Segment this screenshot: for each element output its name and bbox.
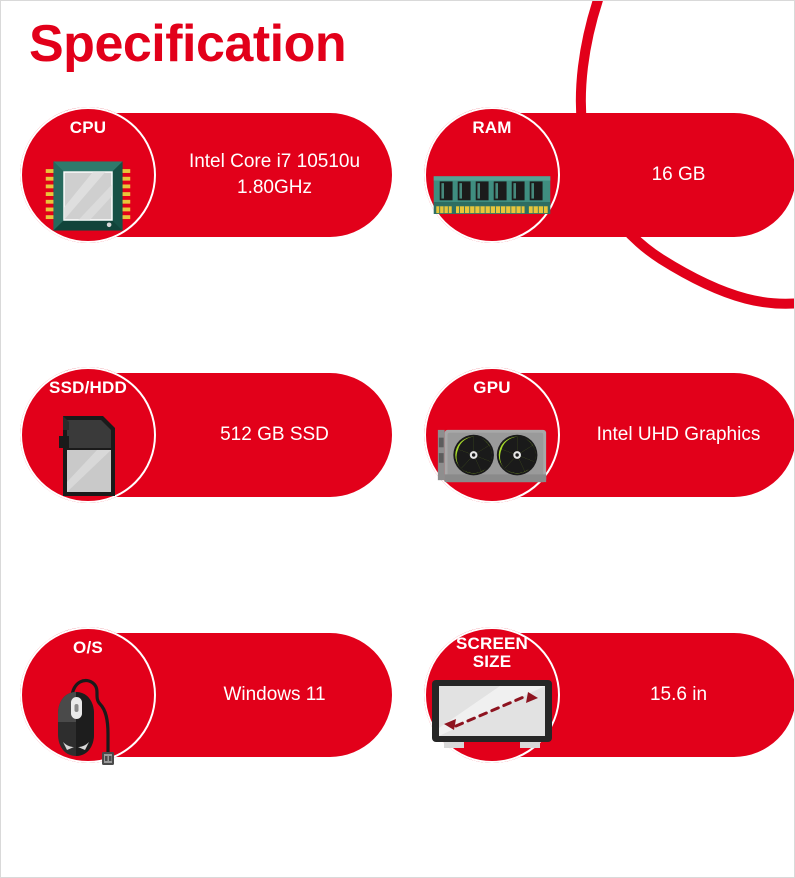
spec-label-gpu: GPU bbox=[424, 379, 560, 397]
spec-card-ram[interactable]: RAM 16 GB bbox=[433, 113, 795, 237]
spec-row: SSD/HDD 512 GB SSD bbox=[1, 373, 795, 633]
spec-label-screen-size: SCREEN SIZE bbox=[424, 635, 560, 672]
spec-value-screen-size: 15.6 in bbox=[561, 633, 795, 757]
spec-card-gpu[interactable]: GPU Intel UHD Graphics bbox=[433, 373, 795, 497]
spec-label-storage: SSD/HDD bbox=[20, 379, 156, 397]
spec-label-screen-size-line1: SCREEN bbox=[456, 634, 528, 653]
spec-row: CPU Intel Core i7 10510u 1.80GHz bbox=[1, 113, 795, 373]
page-title: Specification bbox=[29, 15, 346, 75]
memory-card-icon bbox=[20, 403, 156, 509]
spec-card-storage[interactable]: SSD/HDD 512 GB SSD bbox=[29, 373, 392, 497]
spec-card-os[interactable]: O/S Windows 11 bbox=[29, 633, 392, 757]
spec-label-ram: RAM bbox=[424, 119, 560, 137]
spec-value-ram: 16 GB bbox=[561, 113, 795, 237]
spec-value-cpu-line1: Intel Core i7 10510u bbox=[189, 151, 360, 172]
monitor-diagonal-icon bbox=[424, 663, 560, 769]
spec-value-cpu: Intel Core i7 10510u 1.80GHz bbox=[157, 113, 392, 237]
spec-card-grid: CPU Intel Core i7 10510u 1.80GHz bbox=[1, 113, 795, 878]
spec-value-os: Windows 11 bbox=[157, 633, 392, 757]
specification-infographic: Specification bbox=[0, 0, 795, 878]
spec-row: O/S Windows 11 bbox=[1, 633, 795, 878]
spec-label-cpu: CPU bbox=[20, 119, 156, 137]
spec-value-gpu: Intel UHD Graphics bbox=[561, 373, 795, 497]
spec-value-cpu-line2: 1.80GHz bbox=[237, 177, 312, 198]
spec-value-storage: 512 GB SSD bbox=[157, 373, 392, 497]
graphics-card-icon bbox=[424, 403, 560, 509]
computer-mouse-icon bbox=[20, 663, 156, 769]
ram-stick-icon bbox=[424, 143, 560, 249]
cpu-chip-icon bbox=[20, 143, 156, 249]
spec-card-screen-size[interactable]: SCREEN SIZE 15.6 in bbox=[433, 633, 795, 757]
spec-label-os: O/S bbox=[20, 639, 156, 657]
spec-card-cpu[interactable]: CPU Intel Core i7 10510u 1.80GHz bbox=[29, 113, 392, 237]
spec-label-screen-size-line2: SIZE bbox=[473, 652, 512, 671]
